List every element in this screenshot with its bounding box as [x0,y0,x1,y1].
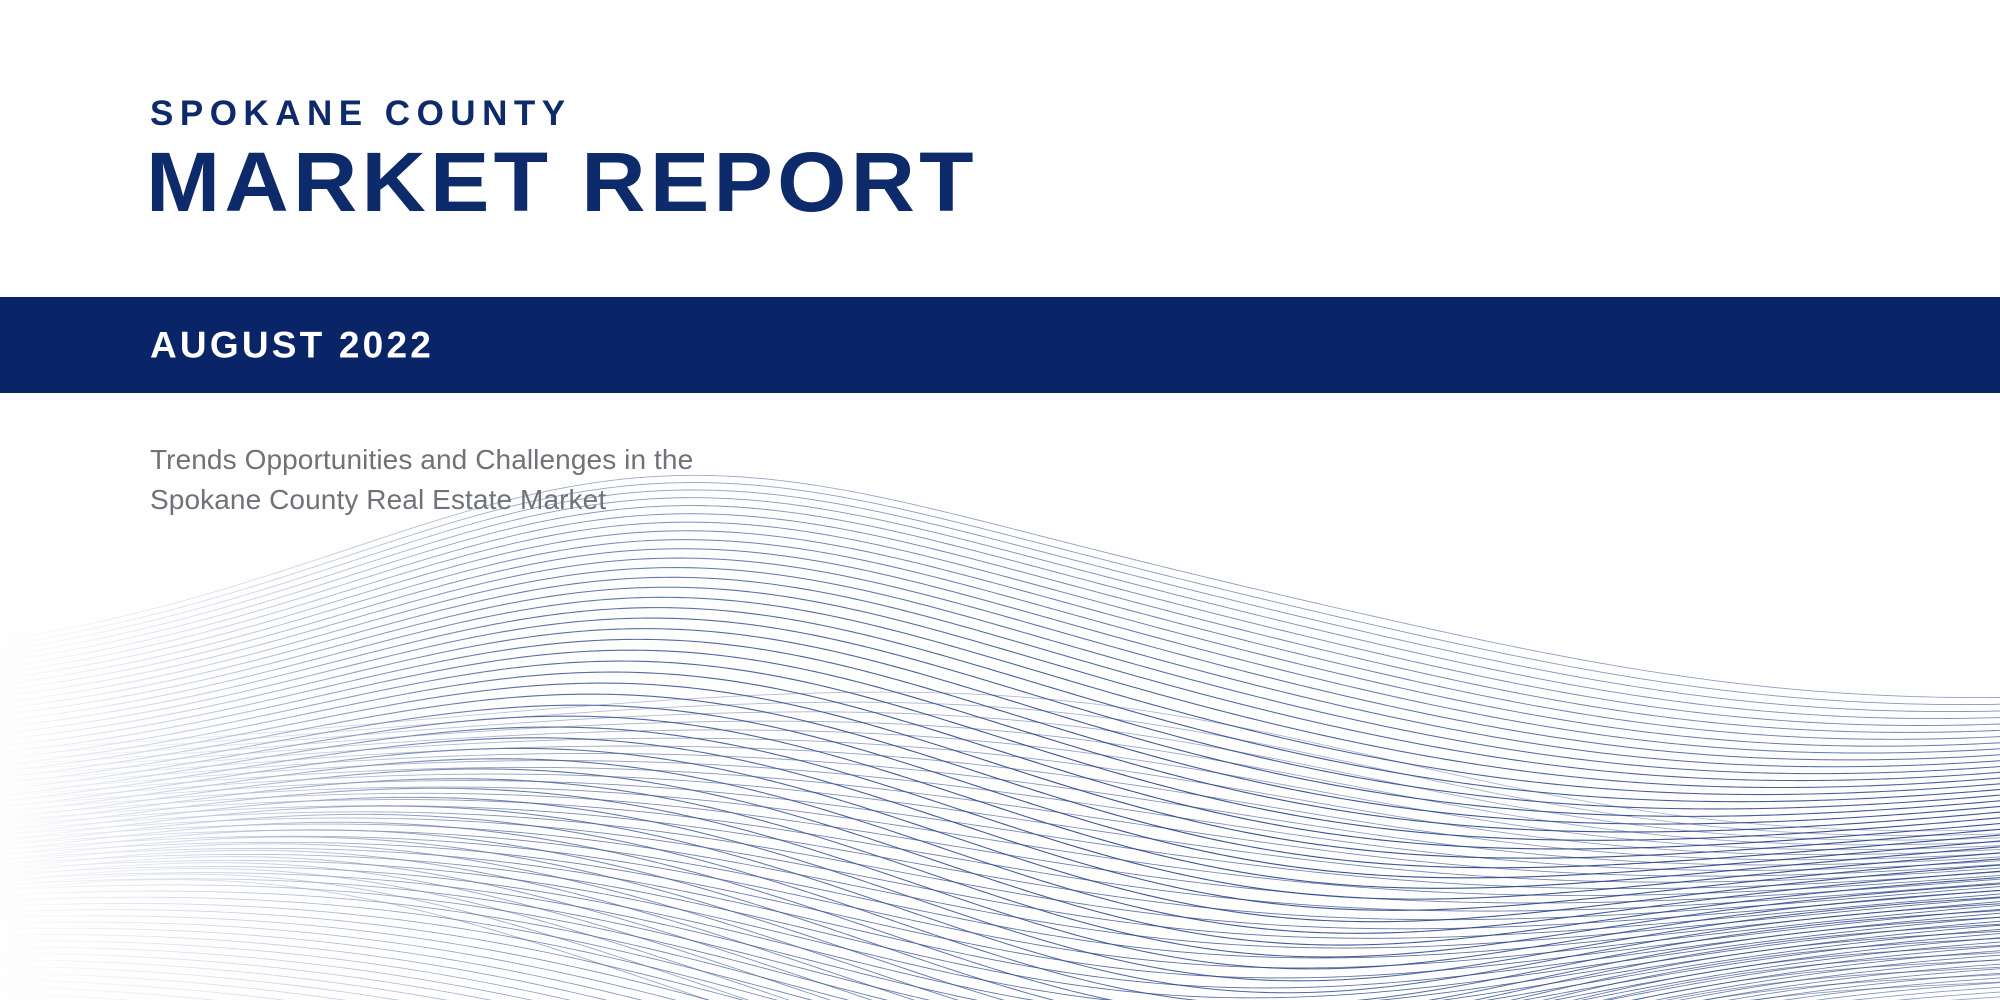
wave-line [0,885,2000,1000]
wave-line [0,672,2000,849]
page-title: MARKET REPORT [146,140,978,224]
wave-line [0,490,2000,712]
wave-line [0,692,2000,831]
wave-line-group [0,475,2000,1000]
wave-line [0,788,2000,969]
wave-line [0,874,2000,1000]
wave-line [0,842,2000,978]
wave-line [0,973,2000,1000]
wave-line [0,910,2000,1000]
wave-line [0,522,2000,739]
wave-line [0,873,2000,1000]
wave-line [0,738,2000,910]
subtitle: Trends Opportunities and Challenges in t… [150,440,693,520]
wave-line [0,812,2000,929]
report-cover-page: SPOKANE COUNTY MARKET REPORT AUGUST 2022… [0,0,2000,1000]
wave-line [0,787,2000,896]
wave-line [0,993,2000,1000]
wave-line [0,879,2000,1000]
wave-line [0,753,2000,865]
wave-line [0,705,2000,878]
wave-line [0,867,2000,1000]
wave-line [0,587,2000,787]
wave-line [0,800,2000,912]
wave-line [0,814,2000,1000]
wave-line [0,836,2000,968]
wave-line [0,935,2000,1000]
wave-line [0,781,2000,889]
wave-line [0,498,2000,719]
wave-line [0,683,2000,858]
wave-line [0,738,2000,854]
wave-line [0,540,2000,753]
wave-line [0,830,2000,958]
wave-line [0,759,2000,934]
wave-line [0,966,2000,1000]
wave-line [0,793,2000,903]
wave-line [0,891,2000,1000]
wave-line [0,727,2000,899]
wave-line [0,979,2000,1000]
wave-line [0,779,2000,957]
wave-line [0,868,2000,1000]
wave-line [0,618,2000,809]
wave-line [0,712,2000,840]
wave-line [0,824,2000,948]
wave-line [0,549,2000,760]
wave-line [0,721,2000,845]
wave-line [0,822,2000,1000]
wave-line [0,916,2000,1000]
wave-line [0,639,2000,824]
date-band-label: AUGUST 2022 [150,327,434,364]
wave-line [0,850,2000,1000]
wave-line [0,947,2000,1000]
wave-line [0,837,2000,1000]
wave-line [0,903,2000,1000]
wave-line [0,774,2000,882]
wave-line [0,863,2000,1000]
wave-line [0,767,2000,876]
wave-line [0,897,2000,1000]
wave-line [0,568,2000,774]
wave-line [0,558,2000,767]
wave-line [0,761,2000,871]
wave-line [0,531,2000,746]
wave-line [0,730,2000,850]
wave-line [0,960,2000,1000]
wave-line [0,629,2000,817]
wave-line [0,848,2000,988]
wave-line [0,577,2000,780]
wave-line [0,857,2000,1000]
wave-line [0,514,2000,733]
wave-line [0,769,2000,945]
wave-line [0,806,2000,920]
wave-line [0,597,2000,794]
wave-line [0,922,2000,1000]
wave-line [0,506,2000,726]
wave-line [0,702,2000,835]
wave-line [0,694,2000,868]
wave-line [0,797,2000,980]
wave-line [0,861,2000,1000]
wave-line [0,746,2000,860]
subtitle-line-2: Spokane County Real Estate Market [150,480,693,520]
wave-line [0,854,2000,997]
wave-line [0,830,2000,1000]
wave-line [0,661,2000,840]
wave-line [0,806,2000,993]
wave-line [0,986,2000,1000]
wave-line [0,844,2000,1000]
wave-line [0,928,2000,1000]
wave-line [0,748,2000,921]
date-band: AUGUST 2022 [0,297,2000,393]
wave-line [0,818,2000,938]
wave-line [0,954,2000,1000]
wave-line [0,880,2000,1000]
wave-line [0,716,2000,888]
wave-line [0,650,2000,832]
wave-line [0,941,2000,1000]
page-eyebrow: SPOKANE COUNTY [150,96,572,131]
wave-line [0,608,2000,802]
subtitle-line-1: Trends Opportunities and Challenges in t… [150,440,693,480]
